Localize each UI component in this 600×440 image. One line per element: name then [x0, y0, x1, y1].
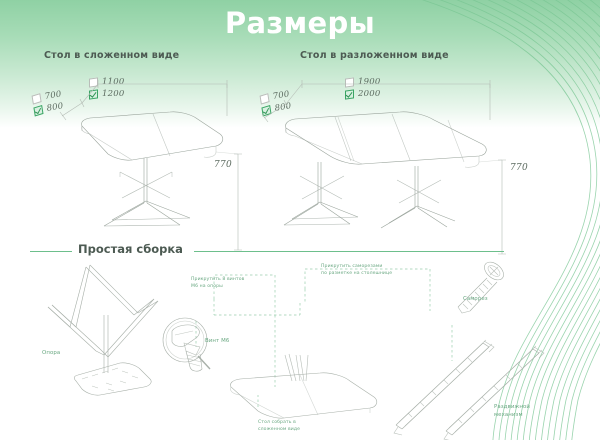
divider-line-left — [30, 251, 72, 252]
infographic-root: Размеры Стол в сложенном виде 1100 — [0, 0, 600, 440]
divider-line-right — [194, 251, 504, 252]
assembly-section-title: Простая сборка — [78, 242, 183, 256]
label-self-tapping-screw: Саморез — [463, 296, 488, 304]
height-dimension-folded: 770 — [214, 160, 232, 170]
panel-title-folded: Стол в сложенном виде — [44, 50, 274, 61]
label-support: Опора — [42, 350, 60, 358]
table-drawing-extended — [250, 68, 540, 228]
note-screw-tabletop: Прикрутить саморезами по разметке на сто… — [321, 264, 416, 277]
label-screw-m6: Винт М6 — [205, 338, 229, 346]
panel-title-extended: Стол в разложенном виде — [300, 50, 550, 61]
table-drawing-folded — [20, 68, 255, 228]
dimension-panel-folded: Стол в сложенном виде — [44, 50, 274, 61]
label-slide-mechanism: Раздвижной механизм — [494, 404, 530, 420]
note-screw-supports: Прикрутить 8 винтов М6 на опоры — [191, 277, 269, 290]
height-dimension-extended: 770 — [510, 163, 528, 173]
dimension-panel-extended: Стол в разложенном виде — [300, 50, 550, 61]
page-title: Размеры — [0, 6, 600, 40]
note-assemble-folded: Стол собрать в сложенном виде — [258, 420, 328, 433]
